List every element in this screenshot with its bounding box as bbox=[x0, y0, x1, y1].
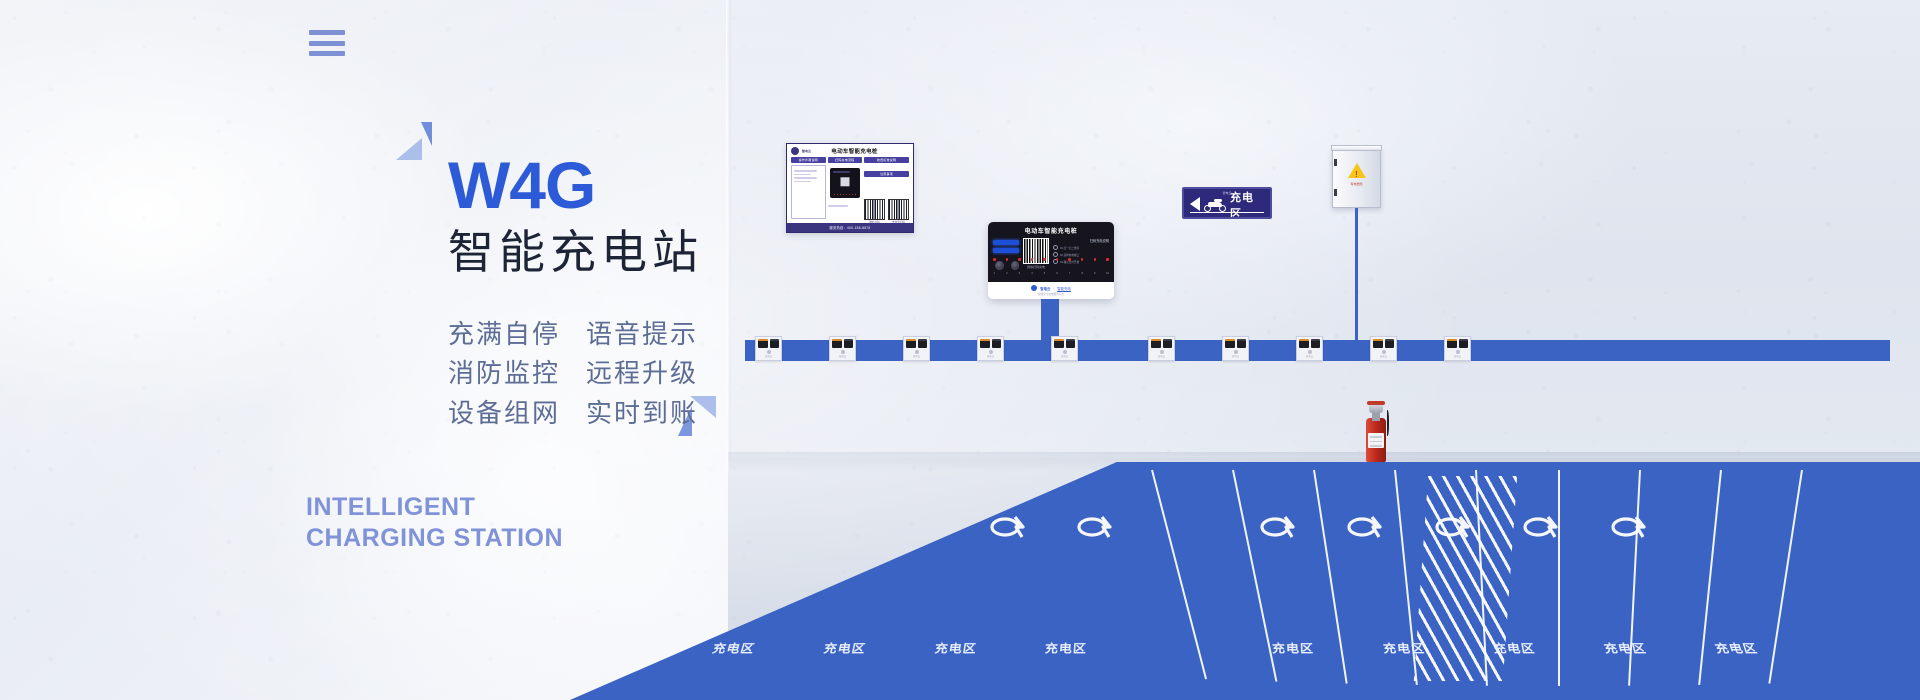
sign-brand: 智电云 bbox=[1184, 191, 1270, 195]
port-indicator: 9 bbox=[1094, 258, 1097, 279]
charging-plug-icon bbox=[1076, 514, 1116, 540]
bay-label: 充电区 bbox=[822, 639, 868, 656]
pile-screen: 电动车智能充电桩 微信扫码充电 扫码充电说明 01 扫一扫二维码 bbox=[988, 222, 1114, 282]
cabinet-power-conduit bbox=[1355, 208, 1358, 342]
cabinet-hinge bbox=[1334, 159, 1337, 166]
direction-sign: 智电云 充电区 bbox=[1182, 187, 1272, 219]
poster-steps-box bbox=[791, 165, 826, 219]
wall-socket[interactable]: 充电口 bbox=[1296, 336, 1323, 361]
poster-footer: 服务热线：400-158-8878 bbox=[787, 223, 913, 232]
pile-footer: 智电云 | 智能充电 智能安全充电服务平台 bbox=[988, 282, 1114, 299]
charging-pile-device[interactable]: 电动车智能充电桩 微信扫码充电 扫码充电说明 01 扫一扫二维码 bbox=[988, 222, 1114, 299]
wall-socket[interactable]: 充电口 bbox=[755, 336, 782, 361]
poster-body: 操作步骤说明 扫码充电流程 收费标准说明 注意事项 bbox=[787, 156, 913, 220]
menu-bar-2 bbox=[309, 41, 345, 46]
charging-plug-icon bbox=[1259, 514, 1299, 540]
sign-underline bbox=[1190, 212, 1264, 214]
charging-plug-icon bbox=[1610, 514, 1650, 540]
feature-item: 充满自停 bbox=[448, 318, 560, 353]
step-icon bbox=[1053, 245, 1058, 250]
wall-socket[interactable]: 充电口 bbox=[829, 336, 856, 361]
left-arrow-icon bbox=[1190, 197, 1200, 211]
wall-socket[interactable]: 充电口 bbox=[903, 336, 930, 361]
port-indicator: 10 bbox=[1106, 258, 1109, 279]
banner-stage: W4G 智能充电站 充满自停 语音提示 消防监控 远程升级 设备组网 实时到账 … bbox=[0, 0, 1920, 700]
wall-socket[interactable]: 充电口 bbox=[1051, 336, 1078, 361]
menu-bar-1 bbox=[309, 30, 345, 35]
poster-logo-icon bbox=[791, 147, 799, 155]
feature-item: 消防监控 bbox=[448, 357, 560, 392]
electrical-cabinet: ! 有电危险 bbox=[1332, 148, 1381, 208]
pile-lcd-display-2 bbox=[993, 248, 1019, 253]
poster-device-illustration bbox=[830, 168, 860, 198]
bay-label: 充电区 bbox=[1045, 639, 1088, 656]
scooter-icon bbox=[1204, 198, 1226, 212]
charging-plug-icon bbox=[1346, 514, 1386, 540]
wall-socket[interactable]: 充电口 bbox=[977, 336, 1004, 361]
fire-extinguisher-icon bbox=[1366, 400, 1386, 462]
port-indicator: 2 bbox=[1006, 258, 1009, 279]
feature-item: 实时到账 bbox=[586, 397, 698, 432]
poster-chip: 注意事项 bbox=[864, 171, 909, 177]
hero-copy: W4G 智能充电站 充满自停 语音提示 消防监控 远程升级 设备组网 实时到账 bbox=[448, 152, 708, 431]
page-subtitle: 智能充电站 bbox=[448, 224, 708, 282]
qr-code-icon bbox=[888, 199, 909, 220]
feature-list: 充满自停 语音提示 消防监控 远程升级 设备组网 实时到账 bbox=[448, 318, 698, 432]
port-indicator: 7 bbox=[1068, 258, 1071, 279]
charging-plug-icon bbox=[989, 514, 1029, 540]
wall-poster: 智电云 电动车智能充电桩 操作步骤说明 扫码充电流程 bbox=[786, 143, 914, 233]
port-indicator: 6 bbox=[1056, 258, 1059, 279]
bay-label: 充电区 bbox=[933, 639, 977, 656]
port-indicator: 3 bbox=[1018, 258, 1021, 279]
wall-socket[interactable]: 充电口 bbox=[1148, 336, 1175, 361]
decorative-arrow-shard-top bbox=[396, 122, 436, 164]
pile-lcd-display-1 bbox=[993, 240, 1019, 245]
bay-label: 充电区 bbox=[1492, 639, 1537, 656]
cabinet-warning-label: 有电危险 bbox=[1333, 182, 1380, 186]
pile-footer-sub: 智能安全充电服务平台 bbox=[1038, 292, 1064, 296]
pile-instructions-title: 扫码充电说明 bbox=[1053, 238, 1109, 243]
pile-title: 电动车智能充电桩 bbox=[993, 226, 1109, 235]
poster-qr-row: 微信扫码 支付宝扫码 bbox=[864, 199, 909, 224]
english-tagline-line2: CHARGING STATION bbox=[306, 523, 563, 554]
pile-footer-link[interactable]: 智能充电 bbox=[1057, 286, 1071, 291]
port-indicator: 1 bbox=[993, 258, 996, 279]
hamburger-menu-icon[interactable] bbox=[309, 30, 345, 56]
english-tagline-line1: INTELLIGENT bbox=[306, 492, 563, 523]
pile-step: 01 扫一扫二维码 bbox=[1060, 246, 1079, 250]
page-title: W4G bbox=[448, 152, 708, 218]
wall-socket[interactable]: 充电口 bbox=[1370, 336, 1397, 361]
poster-column-right: 收费标准说明 注意事项 微信扫码 支付宝扫码 bbox=[864, 157, 909, 219]
poster-chip: 收费标准说明 bbox=[864, 157, 909, 163]
poster-chip: 操作步骤说明 bbox=[791, 157, 826, 163]
feature-item: 远程升级 bbox=[586, 357, 698, 392]
bay-label: 充电区 bbox=[711, 639, 758, 656]
bay-label: 充电区 bbox=[1272, 639, 1315, 656]
poster-column-left: 操作步骤说明 bbox=[791, 157, 826, 219]
menu-bar-3 bbox=[309, 51, 345, 56]
pile-step: 02 选择充电端口 bbox=[1060, 253, 1079, 257]
poster-title: 电动车智能充电桩 bbox=[814, 147, 895, 155]
pile-footer-separator: | bbox=[1053, 286, 1054, 290]
charging-plug-icon bbox=[1434, 514, 1474, 540]
cabinet-hinge bbox=[1334, 189, 1337, 196]
qr-code-icon bbox=[864, 199, 885, 220]
bay-label: 充电区 bbox=[1602, 639, 1648, 656]
port-indicator: 5 bbox=[1043, 258, 1046, 279]
english-tagline: INTELLIGENT CHARGING STATION bbox=[306, 492, 563, 553]
hazard-exclamation: ! bbox=[1355, 171, 1358, 179]
bay-label: 充电区 bbox=[1382, 639, 1426, 656]
step-icon bbox=[1053, 252, 1058, 257]
wall-socket[interactable]: 充电口 bbox=[1222, 336, 1249, 361]
poster-brand: 智电云 bbox=[802, 149, 811, 153]
port-indicator: 8 bbox=[1081, 258, 1084, 279]
wall-socket[interactable]: 充电口 bbox=[1444, 336, 1471, 361]
pile-footer-brand: 智电云 bbox=[1040, 286, 1050, 291]
poster-column-mid: 扫码充电流程 bbox=[828, 157, 863, 219]
charging-plug-icon bbox=[1522, 514, 1562, 540]
cabinet-top-cap bbox=[1331, 145, 1382, 151]
brand-logo-icon bbox=[1031, 285, 1037, 291]
feature-item: 设备组网 bbox=[448, 397, 560, 432]
poster-header: 智电云 电动车智能充电桩 bbox=[787, 144, 913, 156]
pile-port-indicators[interactable]: 1 2 3 4 5 6 7 8 9 10 bbox=[993, 258, 1109, 279]
poster-chip: 扫码充电流程 bbox=[828, 157, 863, 163]
port-indicator: 4 bbox=[1031, 258, 1034, 279]
feature-item: 语音提示 bbox=[586, 318, 698, 353]
bay-label: 充电区 bbox=[1712, 639, 1760, 656]
